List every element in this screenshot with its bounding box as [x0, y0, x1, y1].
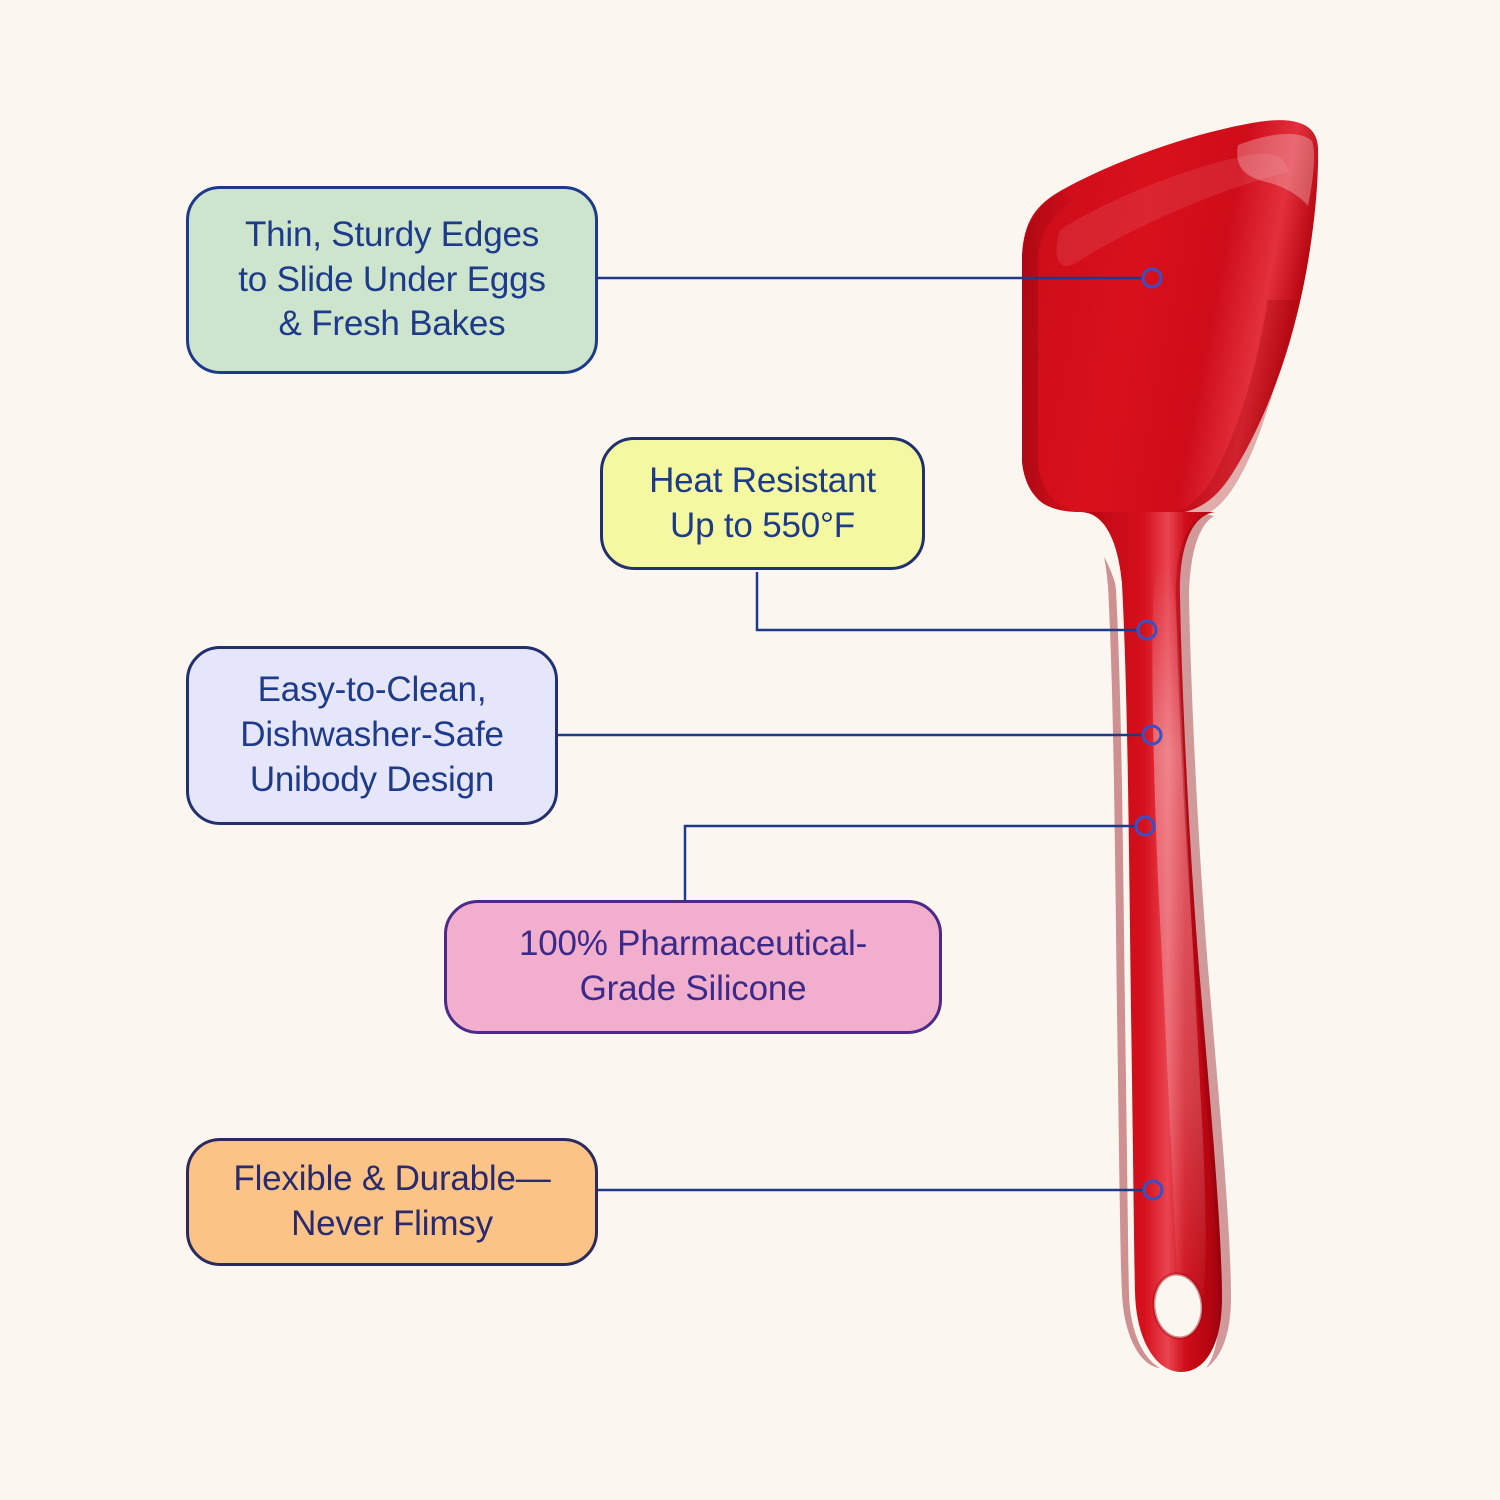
callout-thin-edges: Thin, Sturdy Edges to Slide Under Eggs &… [186, 186, 598, 374]
callout-thin-edges-text: Thin, Sturdy Edges to Slide Under Eggs &… [211, 213, 573, 347]
callout-line: Easy-to-Clean, [211, 668, 533, 713]
callout-line: Never Flimsy [211, 1202, 573, 1247]
callout-line: to Slide Under Eggs [211, 258, 573, 303]
callout-line: & Fresh Bakes [211, 302, 573, 347]
callout-flexible: Flexible & Durable— Never Flimsy [186, 1138, 598, 1266]
callout-easy-clean: Easy-to-Clean, Dishwasher-Safe Unibody D… [186, 646, 558, 825]
callout-line: Dishwasher-Safe [211, 713, 533, 758]
callout-heat-resistant: Heat Resistant Up to 550°F [600, 437, 925, 570]
callout-line: 100% Pharmaceutical- [469, 922, 917, 967]
callout-line: Thin, Sturdy Edges [211, 213, 573, 258]
callout-silicone-text: 100% Pharmaceutical- Grade Silicone [469, 922, 917, 1012]
callout-line: Heat Resistant [625, 459, 900, 504]
callout-easy-clean-text: Easy-to-Clean, Dishwasher-Safe Unibody D… [211, 668, 533, 802]
callout-line: Unibody Design [211, 758, 533, 803]
callout-flexible-text: Flexible & Durable— Never Flimsy [211, 1157, 573, 1247]
callout-silicone: 100% Pharmaceutical- Grade Silicone [444, 900, 942, 1034]
callout-line: Flexible & Durable— [211, 1157, 573, 1202]
callout-line: Up to 550°F [625, 504, 900, 549]
callout-heat-resistant-text: Heat Resistant Up to 550°F [625, 459, 900, 549]
infographic-canvas: Thin, Sturdy Edges to Slide Under Eggs &… [0, 0, 1500, 1500]
callout-line: Grade Silicone [469, 967, 917, 1012]
